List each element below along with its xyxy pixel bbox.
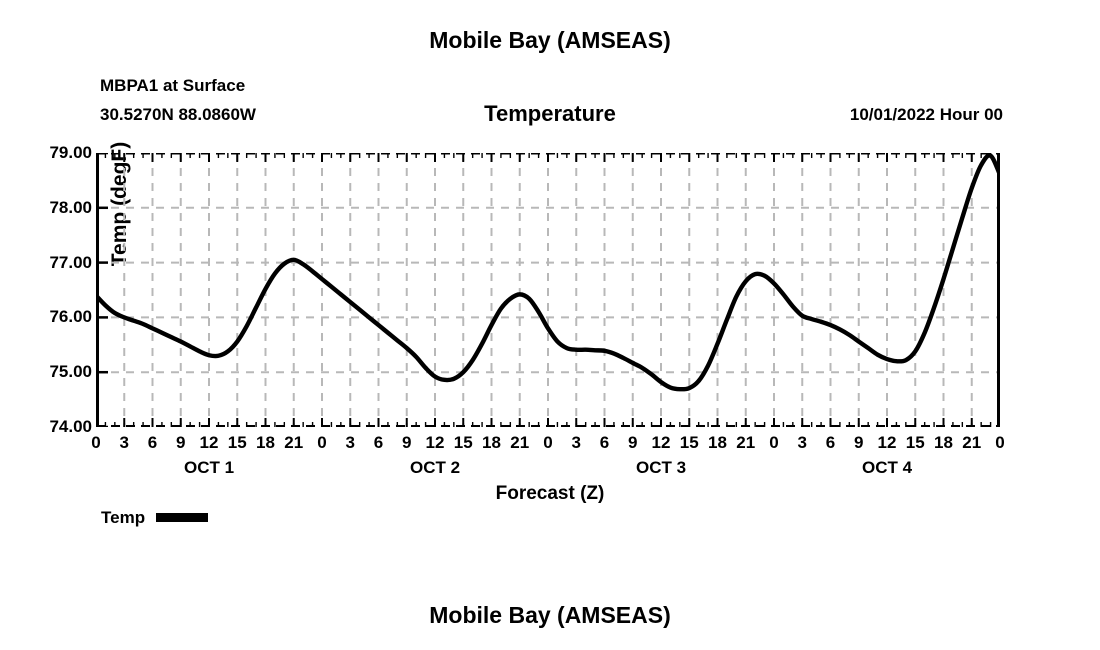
legend-label-temp: Temp	[101, 509, 145, 526]
x-tick-label: 21	[284, 434, 303, 451]
x-tick-label: 3	[346, 434, 355, 451]
x-tick-label: 6	[374, 434, 383, 451]
x-tick-label: 3	[572, 434, 581, 451]
x-tick-label: 3	[120, 434, 129, 451]
vertical-gridlines	[124, 153, 972, 427]
x-tick-label: 12	[652, 434, 671, 451]
chart-legend: Temp	[101, 509, 208, 526]
legend-swatch-temp	[156, 513, 208, 522]
y-tick-label: 77.00	[0, 254, 92, 271]
x-tick-label: 9	[854, 434, 863, 451]
y-tick-label: 78.00	[0, 199, 92, 216]
x-tick-label: 6	[826, 434, 835, 451]
x-tick-label: 18	[482, 434, 501, 451]
y-tick-label: 74.00	[0, 418, 92, 435]
x-tick-label: 12	[200, 434, 219, 451]
x-tick-label: 12	[426, 434, 445, 451]
x-day-label: OCT 3	[636, 459, 686, 476]
page-title-top: Mobile Bay (AMSEAS)	[0, 27, 1100, 54]
page-title-bottom: Mobile Bay (AMSEAS)	[0, 602, 1100, 629]
chart-page: Mobile Bay (AMSEAS) MBPA1 at Surface 30.…	[0, 0, 1100, 650]
x-tick-label: 15	[906, 434, 925, 451]
x-tick-label: 12	[878, 434, 897, 451]
x-tick-label: 9	[176, 434, 185, 451]
model-run-label: 10/01/2022 Hour 00	[850, 105, 1003, 125]
x-axis-title: Forecast (Z)	[0, 483, 1100, 505]
y-tick-label: 79.00	[0, 144, 92, 161]
x-tick-label: 6	[600, 434, 609, 451]
x-tick-label: 6	[148, 434, 157, 451]
x-tick-label: 0	[769, 434, 778, 451]
chart-svg	[96, 153, 1000, 427]
x-tick-label: 0	[543, 434, 552, 451]
x-tick-label: 18	[934, 434, 953, 451]
x-tick-label: 21	[736, 434, 755, 451]
x-day-label: OCT 1	[184, 459, 234, 476]
x-tick-label: 15	[680, 434, 699, 451]
x-tick-label: 21	[962, 434, 981, 451]
x-day-label: OCT 4	[862, 459, 912, 476]
x-tick-label: 0	[91, 434, 100, 451]
x-tick-label: 18	[708, 434, 727, 451]
x-day-label: OCT 2	[410, 459, 460, 476]
x-tick-label: 9	[628, 434, 637, 451]
x-tick-label: 15	[228, 434, 247, 451]
x-tick-label: 9	[402, 434, 411, 451]
x-tick-label: 21	[510, 434, 529, 451]
x-tick-label: 15	[454, 434, 473, 451]
x-tick-label: 0	[995, 434, 1004, 451]
x-tick-label: 3	[798, 434, 807, 451]
x-tick-label: 18	[256, 434, 275, 451]
y-tick-label: 75.00	[0, 363, 92, 380]
y-tick-label: 76.00	[0, 308, 92, 325]
plot-area	[96, 153, 1000, 427]
x-tick-label: 0	[317, 434, 326, 451]
